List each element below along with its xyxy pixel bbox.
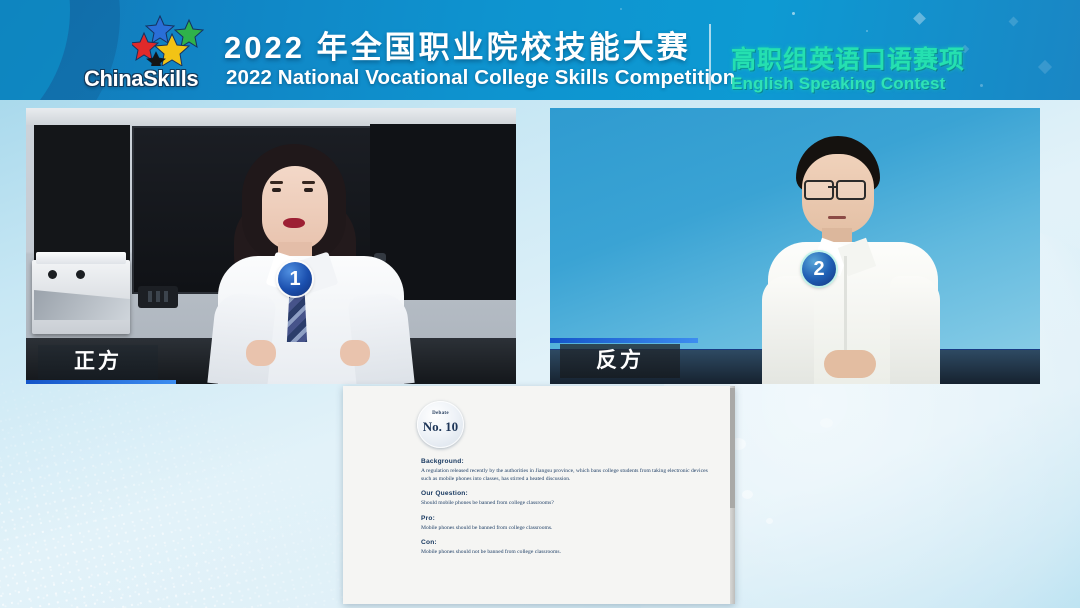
con-speaker-figure	[762, 136, 942, 384]
speaker1-eye	[272, 188, 281, 192]
side-label-pro-text: 正方	[74, 350, 122, 373]
speaker-number-badge-1: 1	[278, 262, 312, 296]
contest-subtitle-english: English Speaking Contest	[731, 74, 946, 94]
section-text-pro: Mobile phones should be banned from coll…	[421, 524, 713, 532]
podium-shade	[34, 290, 130, 320]
side-label-pro: 正方	[38, 345, 158, 379]
speaker1-face	[262, 166, 328, 250]
section-heading-question: Our Question:	[421, 490, 713, 497]
logo-wordmark: ChinaSkills	[84, 66, 214, 92]
podium-knob	[48, 270, 57, 279]
header-sparkle	[792, 12, 795, 15]
debate-topic-document[interactable]: Debate No. 10 Background: A regulation r…	[343, 386, 735, 604]
podium-top-panel	[36, 252, 126, 264]
broadcast-screen: ChinaSkills 2022 年全国职业院校技能大赛 2022 Nation…	[0, 0, 1080, 608]
header-sparkle	[620, 8, 622, 10]
header-sparkle	[980, 84, 983, 87]
logo-word-skills: Skills	[143, 66, 198, 91]
speaker2-left-arm	[762, 276, 814, 384]
side-label-con-text: 反方	[596, 349, 644, 372]
section-text-con: Mobile phones should not be banned from …	[421, 548, 713, 556]
chinaskills-logo: ChinaSkills	[84, 14, 214, 90]
speaker2-mouth	[828, 216, 846, 219]
speaker2-right-arm	[890, 276, 940, 384]
speaker1-right-hand	[340, 340, 370, 366]
speaker1-right-arm	[347, 291, 414, 384]
side-label-con: 反方	[560, 344, 680, 378]
pro-speaker-figure	[216, 144, 406, 384]
document-scrollbar[interactable]	[730, 386, 735, 604]
section-heading-background: Background:	[421, 458, 713, 465]
section-heading-con: Con:	[421, 539, 713, 546]
document-text-body: Background: A regulation released recent…	[421, 458, 713, 556]
logo-stars-cluster	[132, 14, 212, 66]
star-cluster-icon	[132, 14, 212, 66]
competition-title-chinese: 2022 年全国职业院校技能大赛	[224, 22, 691, 67]
stamp-number: No. 10	[417, 419, 464, 435]
classroom-projector-device	[138, 286, 178, 308]
document-scrollbar-thumb[interactable]	[730, 388, 735, 508]
event-header-banner: ChinaSkills 2022 年全国职业院校技能大赛 2022 Nation…	[0, 0, 1080, 100]
stamp-label: Debate	[417, 411, 464, 416]
speaker2-glasses-bridge	[828, 186, 838, 188]
classroom-podium	[32, 260, 130, 334]
section-heading-pro: Pro:	[421, 515, 713, 522]
side-label-con-accent-bar	[550, 338, 698, 343]
speaker1-left-arm	[207, 291, 276, 384]
speaker1-eye	[304, 188, 313, 192]
speaker1-eyebrow	[270, 181, 283, 184]
video-panel-pro-speaker[interactable]	[26, 108, 516, 384]
side-label-pro-accent-bar	[26, 380, 176, 384]
speaker2-glasses-left-lens	[804, 180, 834, 200]
contest-subtitle-chinese: 高职组英语口语赛项	[731, 40, 965, 76]
speaker1-eyebrow	[302, 181, 315, 184]
section-text-question: Should mobile phones be banned from coll…	[421, 499, 713, 507]
speaker1-left-hand	[246, 340, 276, 366]
speaker1-mouth	[283, 218, 305, 228]
competition-title-english: 2022 National Vocational College Skills …	[226, 66, 735, 90]
speaker2-clasped-hands	[824, 350, 876, 378]
section-text-background: A regulation released recently by the au…	[421, 467, 713, 483]
debate-number-stamp: Debate No. 10	[417, 401, 464, 448]
speaker-number-badge-2: 2	[802, 252, 836, 286]
header-sparkle	[866, 30, 868, 32]
header-divider	[709, 24, 711, 90]
classroom-ceiling	[26, 108, 516, 125]
header-diamond-decoration	[913, 12, 926, 25]
logo-word-china: China	[84, 66, 143, 91]
header-diamond-decoration	[1038, 60, 1052, 74]
podium-knob	[76, 270, 85, 279]
header-diamond-decoration	[1009, 17, 1019, 27]
speaker2-glasses-right-lens	[836, 180, 866, 200]
